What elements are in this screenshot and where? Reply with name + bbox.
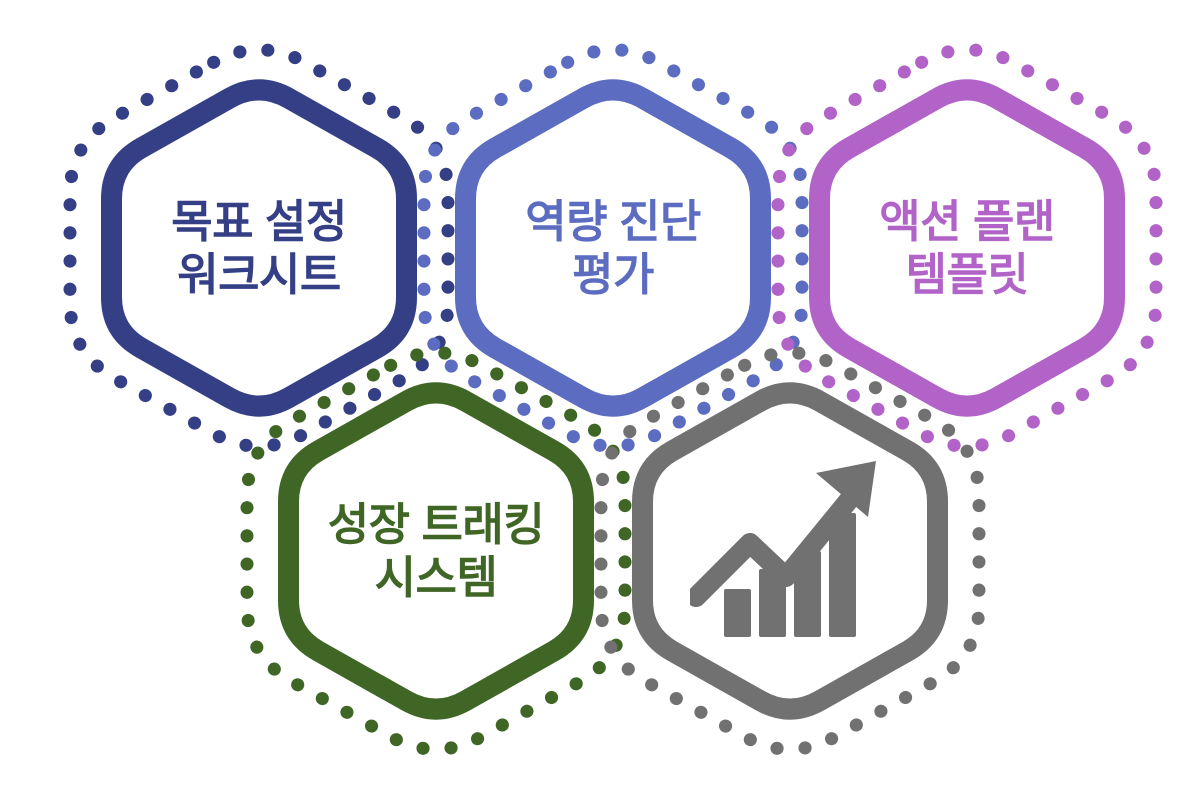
hex-node-growth-chart[interactable] xyxy=(610,351,970,751)
hex-icon-wrap xyxy=(610,351,970,751)
chart-bar-1 xyxy=(724,589,751,637)
hexagon-outline-growth-tracking-system xyxy=(256,351,616,751)
growth-bar-chart-arrow-icon xyxy=(690,451,890,651)
solid-hexagon-border xyxy=(289,393,584,709)
infographic-canvas: 목표 설정워크시트역량 진단평가액션 플랜템플릿성장 트래킹시스템 xyxy=(0,0,1200,800)
hex-node-growth-tracking-system[interactable]: 성장 트래킹시스템 xyxy=(256,351,616,751)
